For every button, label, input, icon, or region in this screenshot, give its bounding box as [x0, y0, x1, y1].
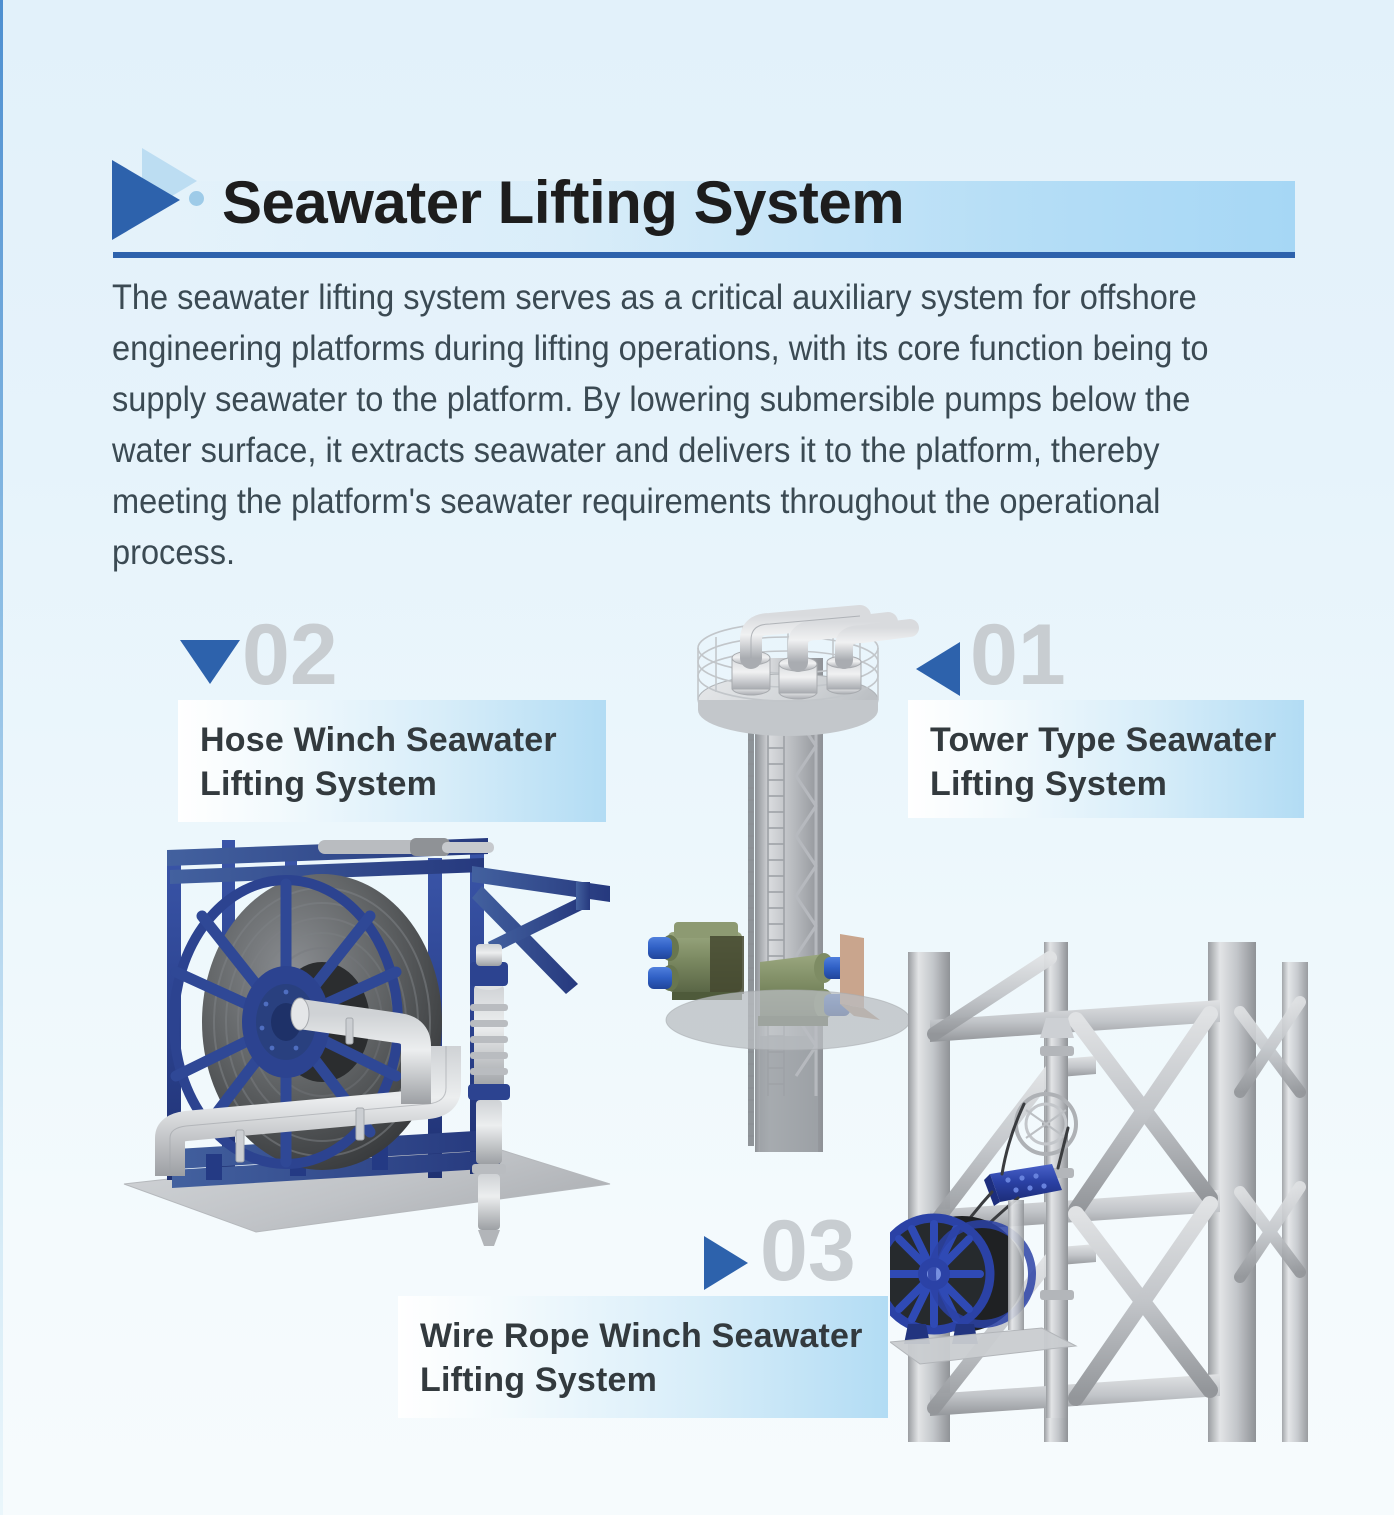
title-marker — [112, 148, 222, 243]
callout-01-number-row: 01 — [908, 626, 1304, 700]
callout-02-number: 02 — [242, 612, 338, 698]
triangle-left-icon — [916, 642, 960, 696]
callout-03-label[interactable]: Wire Rope Winch Seawater Lifting System — [398, 1296, 888, 1418]
callout-01-title-line2: Lifting System — [930, 762, 1282, 806]
callout-02[interactable]: 02 Hose Winch Seawater Lifting System — [178, 626, 606, 822]
play-triangle-icon — [112, 160, 180, 240]
title-underline — [113, 252, 1295, 258]
page-title: Seawater Lifting System — [222, 168, 904, 237]
wire-rope-winch-illustration — [890, 942, 1310, 1442]
triangle-down-icon — [180, 640, 240, 684]
triangle-right-icon — [704, 1236, 748, 1290]
callout-03-number-row: 03 — [398, 1222, 888, 1296]
callout-03-title-line2: Lifting System — [420, 1358, 866, 1402]
callout-01-number: 01 — [970, 612, 1066, 698]
callout-02-title-line2: Lifting System — [200, 762, 584, 806]
callout-02-title-line1: Hose Winch Seawater — [200, 718, 584, 762]
callout-02-label[interactable]: Hose Winch Seawater Lifting System — [178, 700, 606, 822]
callout-02-number-row: 02 — [178, 626, 606, 700]
callout-03-number: 03 — [760, 1208, 856, 1294]
callout-03-title-line1: Wire Rope Winch Seawater — [420, 1314, 866, 1358]
callout-01-title-line1: Tower Type Seawater — [930, 718, 1282, 762]
callout-03[interactable]: 03 Wire Rope Winch Seawater Lifting Syst… — [398, 1222, 888, 1418]
callout-01[interactable]: 01 Tower Type Seawater Lifting System — [908, 626, 1304, 818]
dot-icon — [189, 191, 204, 206]
hose-winch-illustration — [110, 832, 630, 1272]
callout-01-label[interactable]: Tower Type Seawater Lifting System — [908, 700, 1304, 818]
intro-paragraph: The seawater lifting system serves as a … — [112, 272, 1221, 578]
page-header: Seawater Lifting System — [0, 140, 1394, 260]
